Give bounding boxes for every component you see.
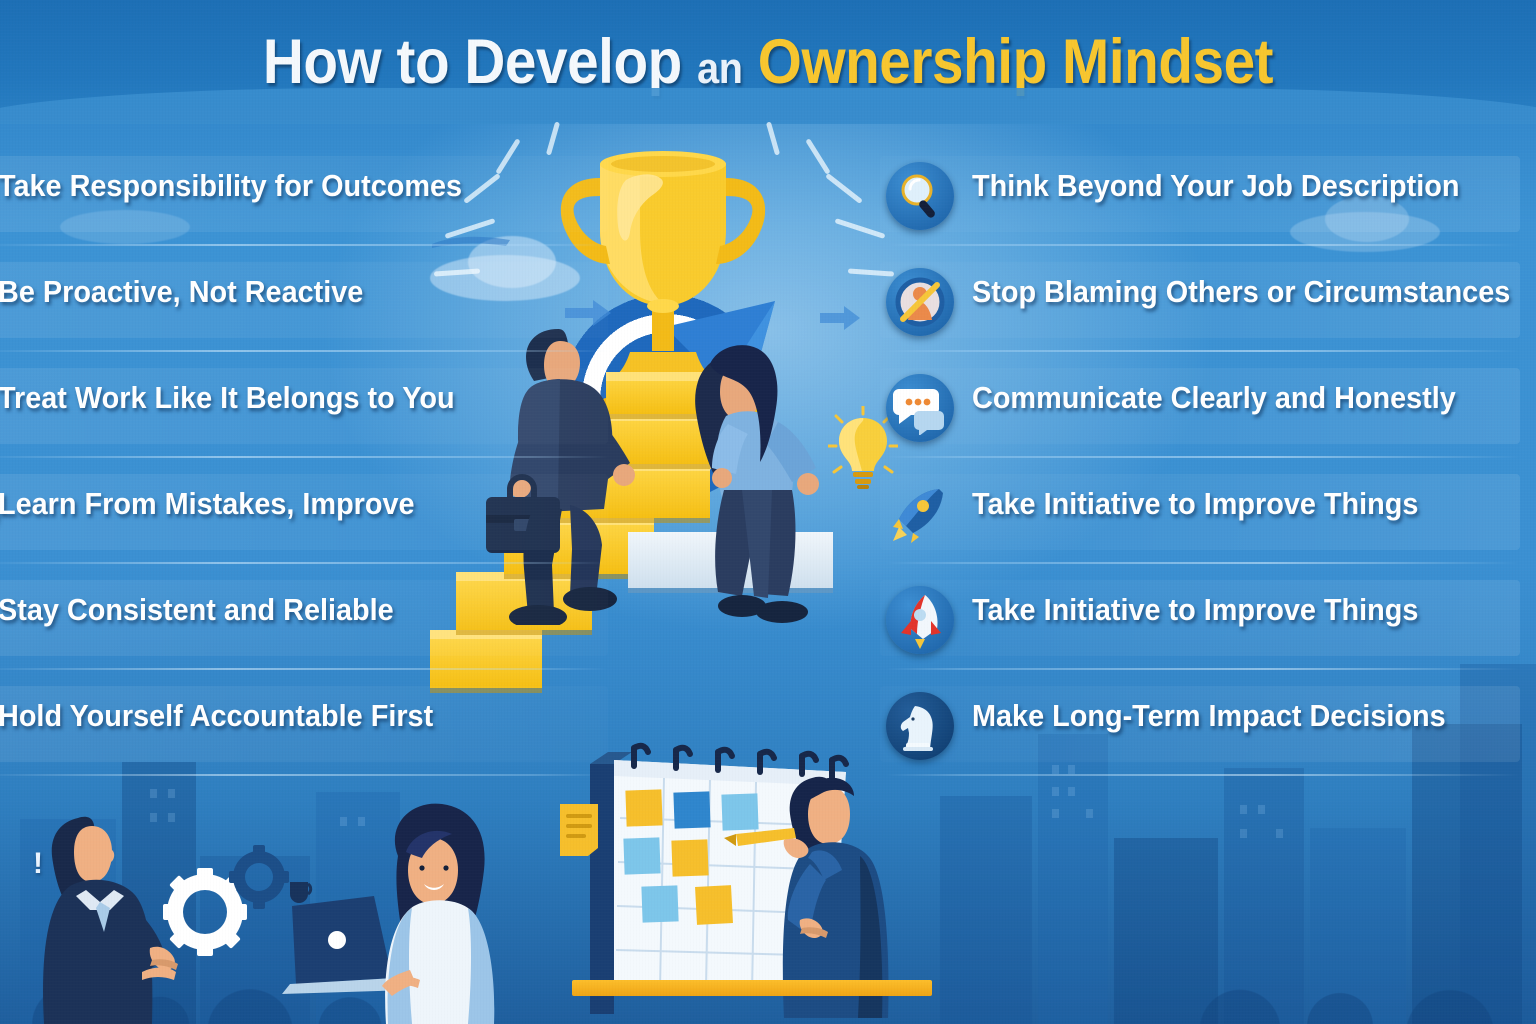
- magnifier-icon: [886, 162, 954, 230]
- list-item-label: Make Long-Term Impact Decisions: [972, 698, 1446, 734]
- list-item[interactable]: Stop Blaming Others or Circumstances: [880, 256, 1520, 362]
- small-arrow-icon: [820, 306, 860, 330]
- list-item-label: Treat Work Like It Belongs to You: [0, 380, 455, 416]
- list-item[interactable]: Take Responsibility for Outcomes: [0, 150, 608, 256]
- growth-arrow-icon: [625, 265, 805, 500]
- list-item[interactable]: Think Beyond Your Job Description: [880, 150, 1520, 256]
- list-item-label: Be Proactive, Not Reactive: [0, 274, 363, 310]
- divider: [0, 668, 608, 670]
- divider: [0, 350, 608, 352]
- two-colleagues-with-gears-and-laptop: [0, 794, 540, 1024]
- list-item[interactable]: Be Proactive, Not Reactive: [0, 256, 608, 362]
- left-items-column: Take Responsibility for Outcomes Be Proa…: [0, 150, 608, 786]
- title-part-1: How to Develop: [263, 27, 682, 97]
- list-item-label: Take Responsibility for Outcomes: [0, 168, 462, 204]
- list-item-label: Stop Blaming Others or Circumstances: [972, 274, 1510, 310]
- divider: [0, 774, 608, 776]
- easel-tray-bar: [572, 980, 932, 996]
- divider: [0, 562, 608, 564]
- divider: [886, 774, 1520, 776]
- list-item-label: Communicate Clearly and Honestly: [972, 380, 1456, 416]
- header-band: How to Develop an Ownership Mindset: [0, 0, 1536, 124]
- list-item[interactable]: Stay Consistent and Reliable: [0, 574, 608, 680]
- list-item-label: Take Initiative to Improve Things: [972, 592, 1418, 628]
- list-item[interactable]: Communicate Clearly and Honestly: [880, 362, 1520, 468]
- divider: [886, 350, 1520, 352]
- divider: [0, 244, 608, 246]
- list-item[interactable]: Take Initiative to Improve Things: [880, 468, 1520, 574]
- page-title: How to Develop an Ownership Mindset: [77, 26, 1459, 98]
- divider: [886, 668, 1520, 670]
- divider: [886, 562, 1520, 564]
- title-part-3: Ownership Mindset: [758, 27, 1273, 97]
- title-part-2: an: [697, 44, 742, 93]
- speech-bubbles-icon: [886, 374, 954, 442]
- rocket-icon: [886, 480, 954, 548]
- no-blame-icon: [886, 268, 954, 336]
- divider: [886, 456, 1520, 458]
- rocket-red-icon: [886, 586, 954, 654]
- businesswoman-on-podium: [666, 338, 842, 638]
- infographic-poster: How to Develop an Ownership Mindset: [0, 0, 1536, 1024]
- list-item[interactable]: Treat Work Like It Belongs to You: [0, 362, 608, 468]
- list-item-label: Learn From Mistakes, Improve: [0, 486, 415, 522]
- list-item[interactable]: Make Long-Term Impact Decisions: [880, 680, 1520, 786]
- divider: [0, 456, 608, 458]
- list-item-label: Stay Consistent and Reliable: [0, 592, 394, 628]
- white-podium: [628, 532, 833, 588]
- list-item[interactable]: Hold Yourself Accountable First: [0, 680, 608, 786]
- list-item-label: Take Initiative to Improve Things: [972, 486, 1418, 522]
- divider: [886, 244, 1520, 246]
- list-item[interactable]: Learn From Mistakes, Improve: [0, 468, 608, 574]
- list-item-label: Hold Yourself Accountable First: [0, 698, 433, 734]
- list-item-label: Think Beyond Your Job Description: [972, 168, 1459, 204]
- list-item[interactable]: Take Initiative to Improve Things: [880, 574, 1520, 680]
- right-items-column: Think Beyond Your Job Description Stop B…: [880, 150, 1520, 786]
